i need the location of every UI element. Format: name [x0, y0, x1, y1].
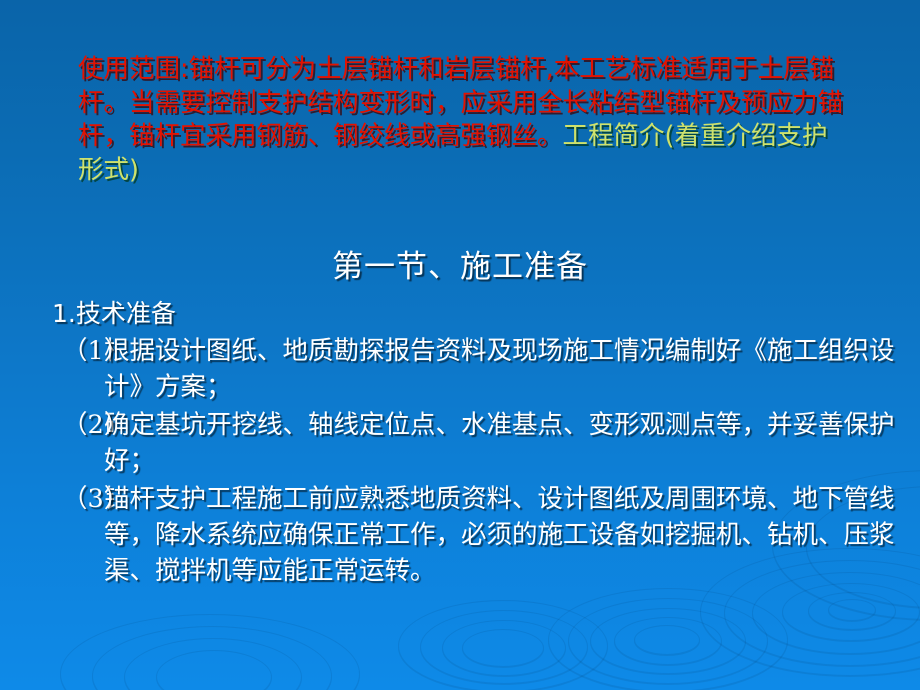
- list-item-text: 锚杆支护工程施工前应熟悉地质资料、设计图纸及周围环境、地下管线等，降水系统应确保…: [104, 484, 895, 586]
- list-item-text: 确定基坑开挖线、轴线定位点、水准基点、变形观测点等，并妥善保护好；: [104, 410, 895, 476]
- section-title: 第一节、施工准备: [0, 248, 920, 286]
- list-item-marker: （3）: [62, 481, 104, 517]
- list-item-marker: （2）: [62, 407, 104, 443]
- list-item: （3）锚杆支护工程施工前应熟悉地质资料、设计图纸及周围环境、地下管线等，降水系统…: [62, 481, 904, 589]
- list-item: （1）根据设计图纸、地质勘探报告资料及现场施工情况编制好《施工组织设计》方案；: [62, 333, 904, 405]
- list-item: （2）确定基坑开挖线、轴线定位点、水准基点、变形观测点等，并妥善保护好；: [62, 407, 904, 479]
- intro-paragraph: 使用范围:锚杆可分为土层锚杆和岩层锚杆,本工艺标准适用于土层锚杆。当需要控制支护…: [78, 53, 848, 187]
- list-item-marker: （1）: [62, 333, 104, 369]
- content-list: 1.技术准备 （1）根据设计图纸、地质勘探报告资料及现场施工情况编制好《施工组织…: [44, 297, 904, 591]
- list-item-text: 根据设计图纸、地质勘探报告资料及现场施工情况编制好《施工组织设计》方案；: [104, 336, 895, 402]
- list-heading: 1.技术准备: [52, 297, 904, 331]
- slide-canvas: 使用范围:锚杆可分为土层锚杆和岩层锚杆,本工艺标准适用于土层锚杆。当需要控制支护…: [0, 0, 920, 690]
